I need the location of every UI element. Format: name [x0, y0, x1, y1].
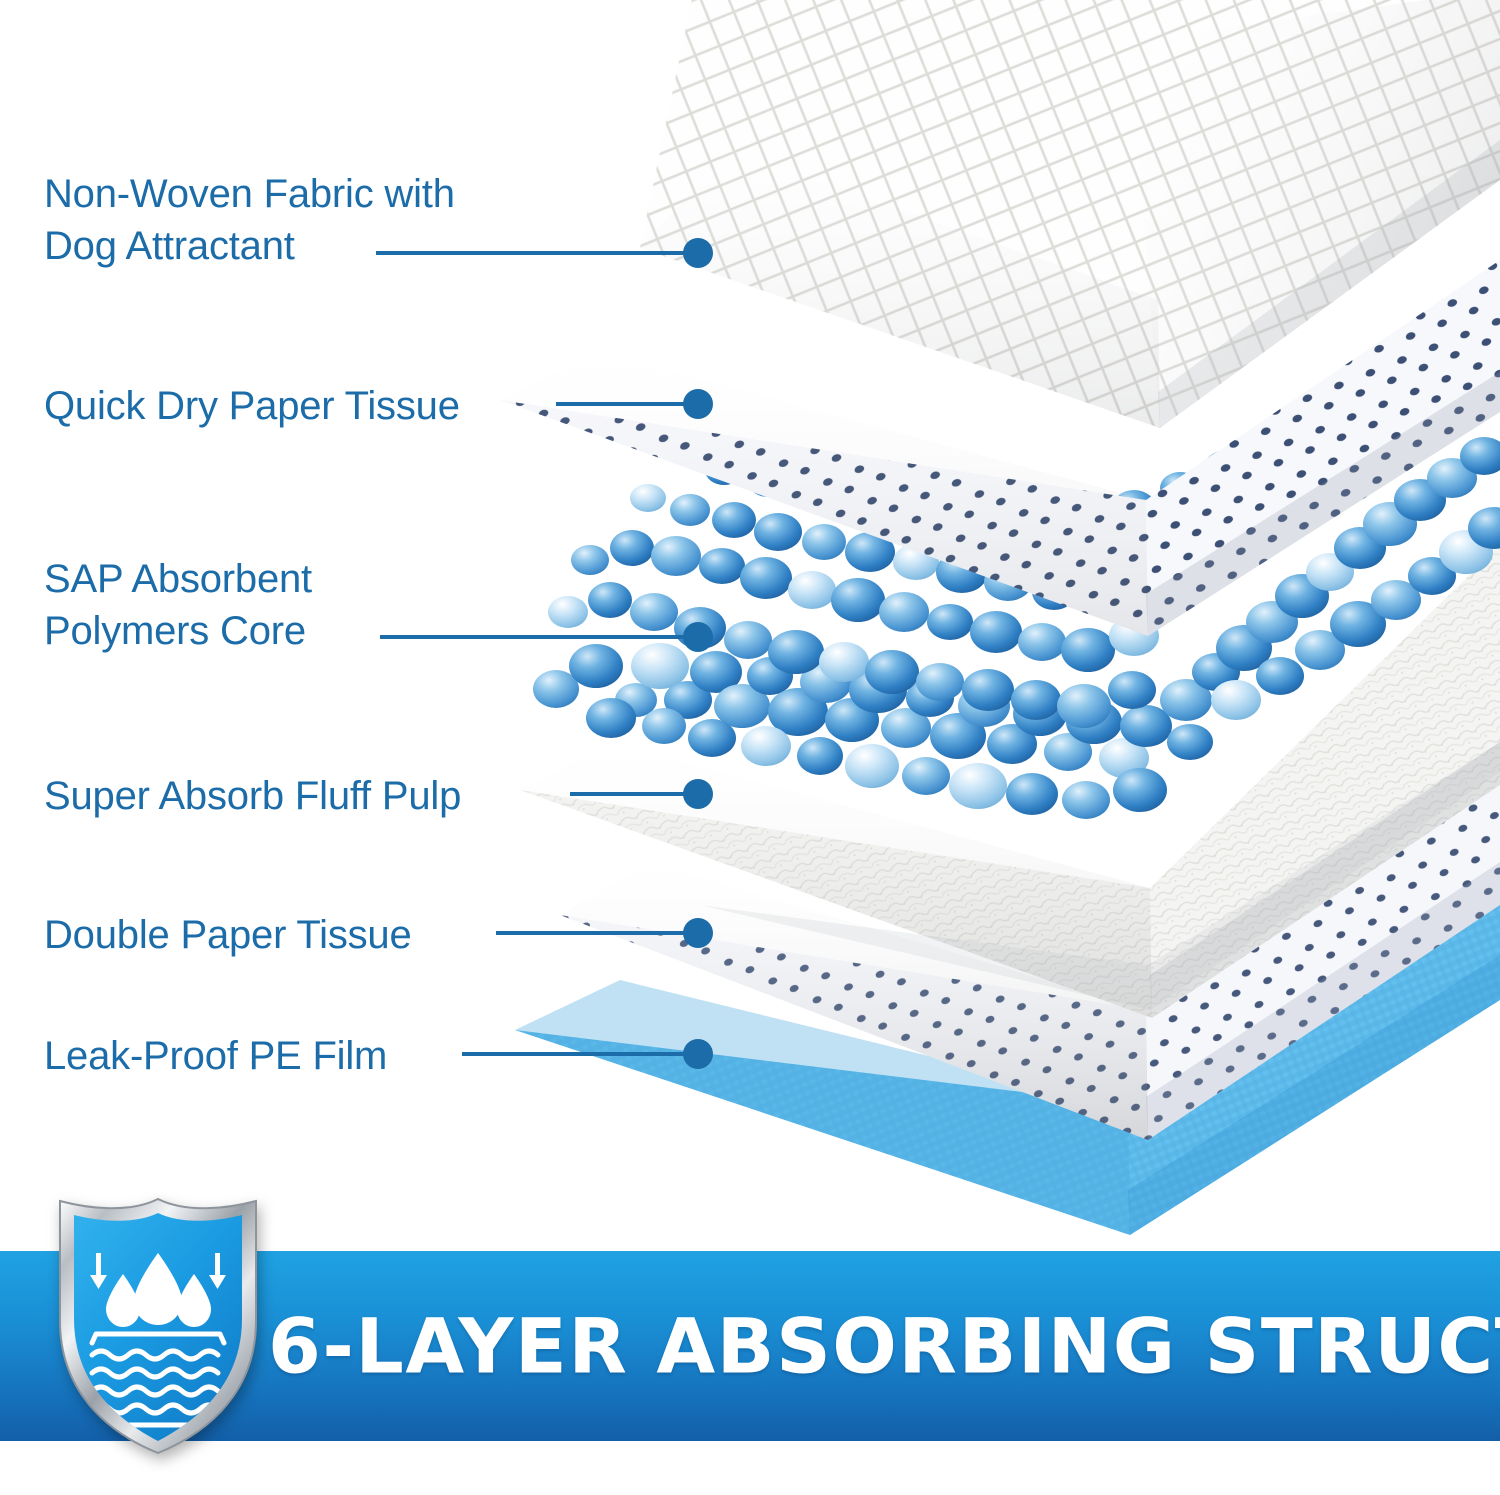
leader-line-double-paper-tissue — [496, 931, 698, 935]
callout-sap-core: SAP Absorbent Polymers Core — [44, 553, 312, 657]
leader-line-non-woven-fabric — [376, 251, 698, 255]
banner-title: 6-LAYER ABSORBING STRUCTURE — [268, 1302, 1500, 1391]
callout-label-sap-core: SAP Absorbent Polymers Core — [44, 553, 312, 657]
leader-dot-pe-film — [683, 1039, 713, 1069]
callout-label-double-paper-tissue: Double Paper Tissue — [44, 910, 412, 961]
absorbency-shield-icon — [38, 1191, 278, 1456]
infographic-stage: Non-Woven Fabric with Dog Attractant Qui… — [0, 0, 1500, 1495]
leader-line-fluff-pulp — [570, 792, 698, 796]
callout-label-quick-dry-tissue: Quick Dry Paper Tissue — [44, 381, 460, 432]
callout-label-fluff-pulp: Super Absorb Fluff Pulp — [44, 771, 461, 822]
leader-line-quick-dry-tissue — [556, 402, 698, 406]
callout-label-non-woven-fabric: Non-Woven Fabric with Dog Attractant — [44, 168, 455, 272]
leader-dot-fluff-pulp — [683, 779, 713, 809]
callout-non-woven-fabric: Non-Woven Fabric with Dog Attractant — [44, 168, 455, 272]
leader-dot-quick-dry-tissue — [683, 389, 713, 419]
leader-dot-non-woven-fabric — [683, 238, 713, 268]
callout-pe-film: Leak-Proof PE Film — [44, 1031, 387, 1082]
callout-quick-dry-tissue: Quick Dry Paper Tissue — [44, 381, 460, 432]
callout-double-paper-tissue: Double Paper Tissue — [44, 910, 412, 961]
callout-fluff-pulp: Super Absorb Fluff Pulp — [44, 771, 461, 822]
leader-line-sap-core — [380, 635, 698, 639]
callout-label-pe-film: Leak-Proof PE Film — [44, 1031, 387, 1082]
leader-dot-double-paper-tissue — [683, 918, 713, 948]
leader-dot-sap-core — [683, 622, 713, 652]
leader-line-pe-film — [462, 1052, 698, 1056]
